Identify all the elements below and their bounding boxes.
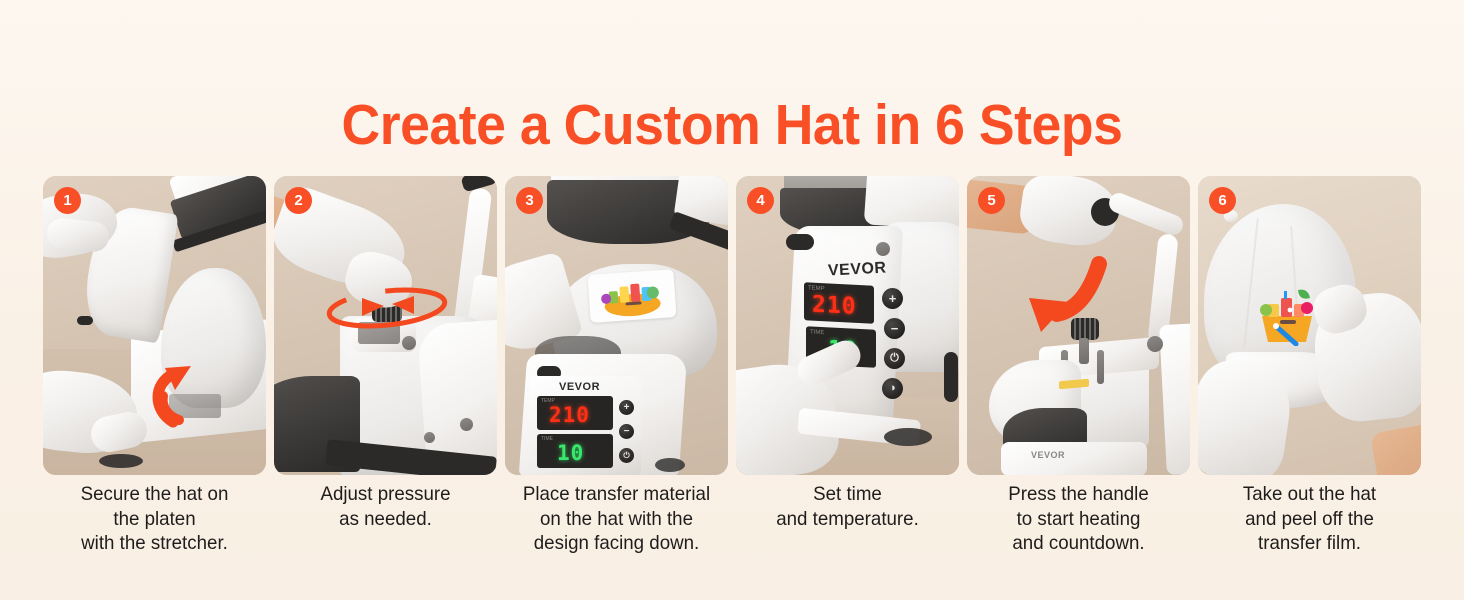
release-lever (786, 234, 814, 250)
machine-foot (884, 428, 932, 446)
power-button[interactable]: ⏻ (884, 348, 905, 369)
printed-design (1254, 286, 1320, 346)
stretcher-foot (99, 454, 143, 468)
increase-button[interactable]: + (882, 288, 903, 309)
bolt-3 (424, 432, 435, 443)
temperature-display: TEMP 210 (804, 282, 874, 324)
brand-logo: VEVOR (1031, 450, 1065, 460)
decrease-button[interactable]: − (619, 424, 634, 439)
time-label: TIME (541, 436, 553, 442)
captions-row: Secure the hat on the platen with the st… (43, 482, 1421, 556)
control-panel: VEVOR TEMP 210 TIME 10 + − ⏻ (529, 376, 641, 475)
temperature-value: 210 (549, 405, 590, 426)
brand-logo: VEVOR (828, 259, 887, 280)
page-title: Create a Custom Hat in 6 Steps (44, 92, 1420, 158)
step-panel-3[interactable]: VEVOR TEMP 210 TIME 10 + − ⏻ 3 (505, 176, 728, 475)
mode-button[interactable]: ◑ (882, 378, 903, 399)
bolt-1 (402, 336, 416, 350)
step-2-photo (274, 176, 497, 475)
step-4-photo: VEVOR TEMP 210 TIME 10 + − ⏻ ◑ (736, 176, 959, 475)
step-caption-6: Take out the hat and peel off the transf… (1202, 482, 1416, 556)
step-6-photo (1198, 176, 1421, 475)
transfer-sheet (587, 269, 676, 323)
step-caption-3: Place transfer material on the hat with … (509, 482, 723, 556)
step-panel-2[interactable]: 2 (274, 176, 497, 475)
step-1-photo (43, 176, 266, 475)
step-panel-1[interactable]: 1 (43, 176, 266, 475)
stretcher-knob-upper (77, 316, 93, 325)
step-panel-5[interactable]: VEVOR 5 (967, 176, 1190, 475)
step-badge-4: 4 (747, 187, 774, 214)
step-badge-2: 2 (285, 187, 312, 214)
step-panel-4[interactable]: VEVOR TEMP 210 TIME 10 + − ⏻ ◑ (736, 176, 959, 475)
step-5-photo: VEVOR (967, 176, 1190, 475)
step-badge-5: 5 (978, 187, 1005, 214)
increase-button[interactable]: + (619, 400, 634, 415)
step-caption-2: Adjust pressure as needed. (278, 482, 492, 556)
step-panel-6[interactable]: 6 (1198, 176, 1421, 475)
machine-foot (655, 458, 685, 472)
temperature-display: TEMP 210 (537, 396, 613, 430)
guide-post-right (1097, 350, 1104, 384)
step-caption-4: Set time and temperature. (740, 482, 954, 556)
power-button[interactable]: ⏻ (619, 448, 634, 463)
step-badge-3: 3 (516, 187, 543, 214)
step-badge-1: 1 (54, 187, 81, 214)
brand-logo: VEVOR (559, 381, 600, 393)
step-5-arrow-icon (1019, 256, 1107, 338)
knob-shaft (1079, 338, 1089, 364)
step-3-photo: VEVOR TEMP 210 TIME 10 + − ⏻ (505, 176, 728, 475)
hinge-bolt (876, 242, 890, 256)
temperature-value: 210 (812, 294, 857, 319)
steps-panel-row: 1 (43, 176, 1421, 475)
step-caption-5: Press the handle to start heating and co… (971, 482, 1185, 556)
printed-design-artwork (1254, 286, 1320, 346)
infographic-page: Create a Custom Hat in 6 Steps (0, 0, 1464, 600)
bolt-2 (460, 418, 473, 431)
time-value: 10 (557, 443, 584, 464)
step-2-arrow-icon (322, 284, 452, 332)
time-display: TIME 10 (537, 434, 613, 468)
decrease-button[interactable]: − (884, 318, 905, 339)
side-handle (944, 352, 958, 402)
step-1-arrow-icon (137, 348, 207, 426)
press-base (1001, 442, 1147, 475)
transfer-design-artwork (587, 269, 676, 323)
step-badge-6: 6 (1209, 187, 1236, 214)
step-caption-1: Secure the hat on the platen with the st… (47, 482, 261, 556)
frame-bolt (1147, 336, 1163, 352)
time-label: TIME (810, 329, 824, 336)
